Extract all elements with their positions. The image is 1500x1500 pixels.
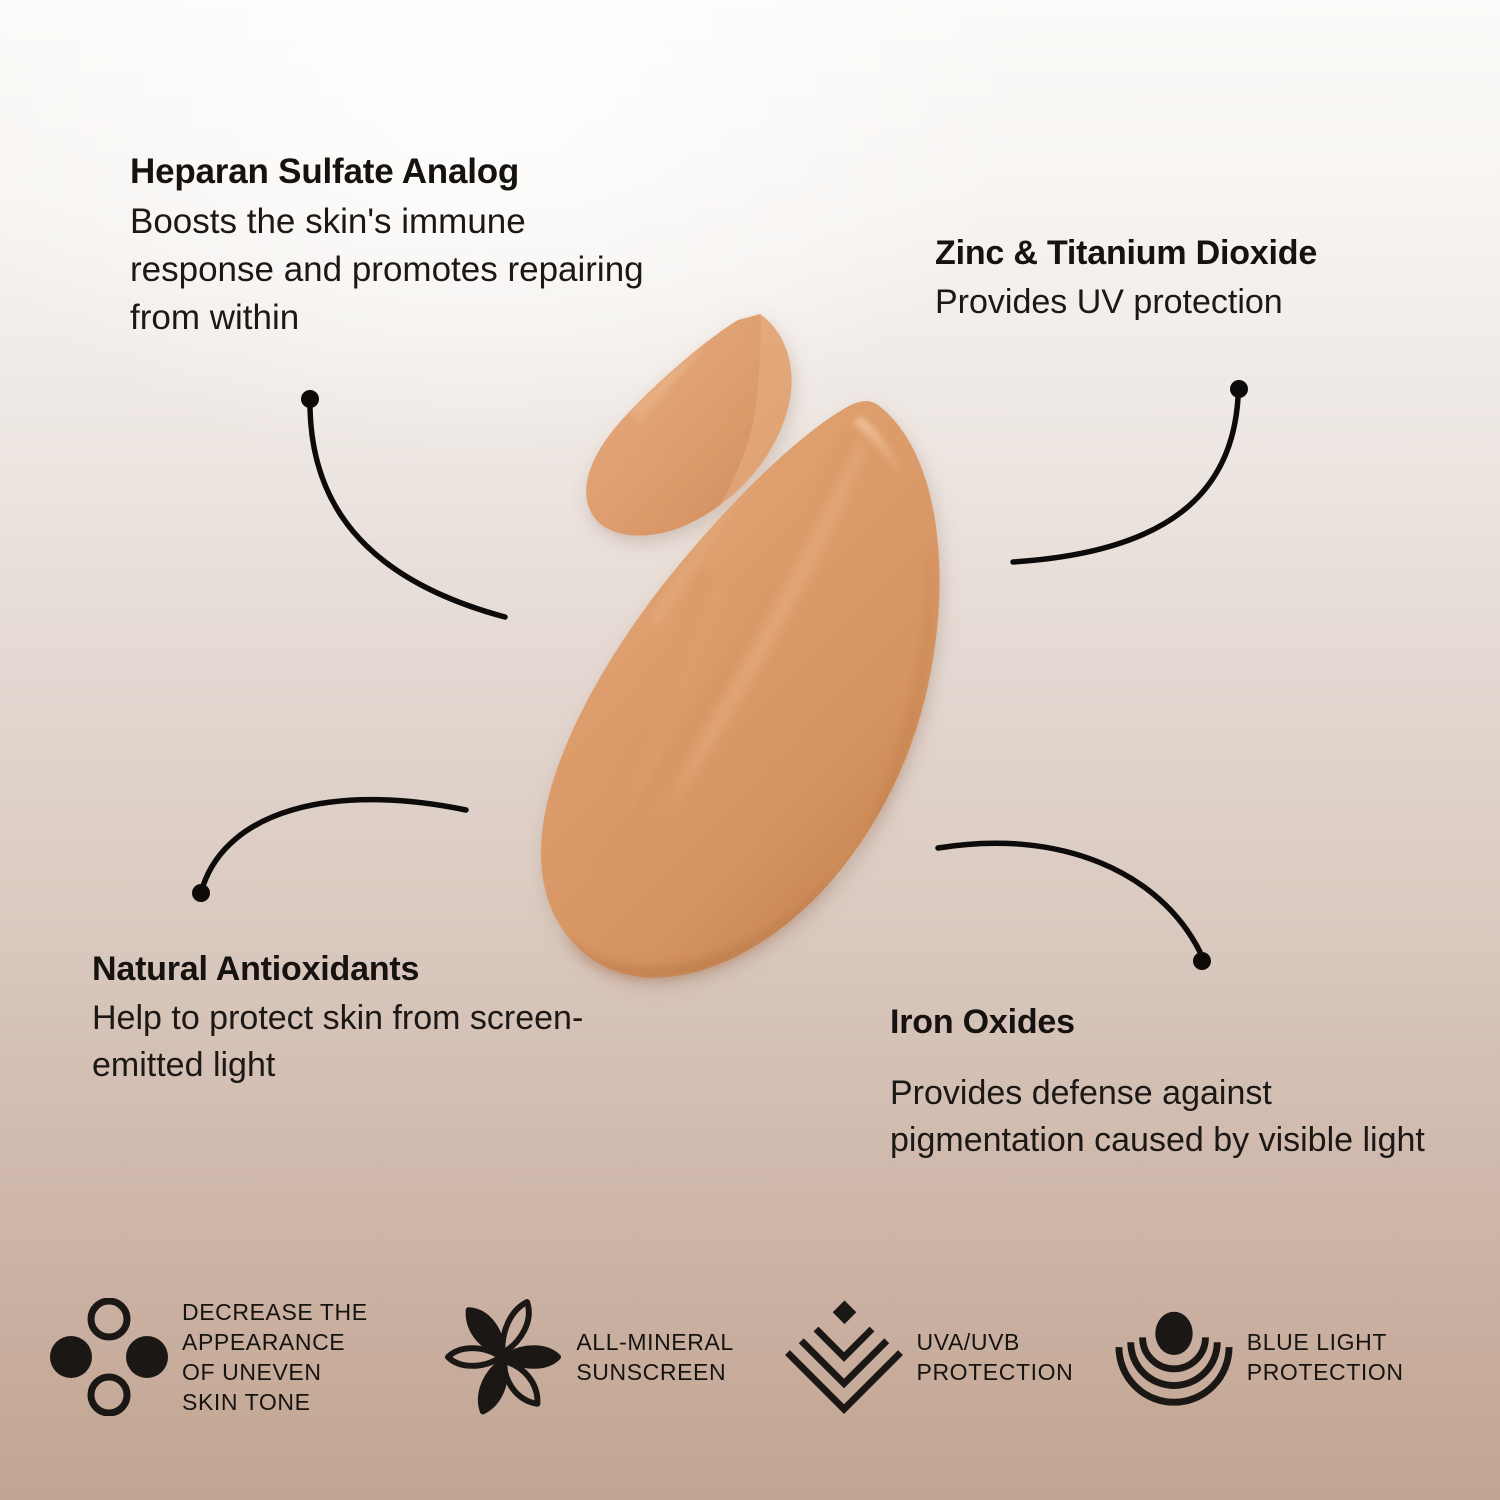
benefit-strip: DECREASE THE APPEARANCE OF UNEVEN SKIN T… xyxy=(50,1272,1450,1442)
ingredient-infographic: Heparan Sulfate Analog Boosts the skin's… xyxy=(0,0,1500,1500)
swatch-dollop-small xyxy=(586,314,791,536)
benefit-label: UVA/UVB PROTECTION xyxy=(917,1327,1074,1387)
connector-iron xyxy=(938,843,1200,952)
chevron-rays-uv-icon xyxy=(785,1298,903,1416)
connector-dot-zinc xyxy=(1230,380,1248,398)
swatch-smear-large xyxy=(541,401,940,979)
benefit-uva-uvb-protection: UVA/UVB PROTECTION xyxy=(785,1298,1115,1416)
benefit-blue-light-protection: BLUE LIGHT PROTECTION xyxy=(1115,1298,1450,1416)
callout-title: Natural Antioxidants xyxy=(92,945,622,993)
callout-natural-antioxidants: Natural Antioxidants Help to protect ski… xyxy=(92,945,622,1089)
connector-dot-antioxidants xyxy=(192,884,210,902)
four-dots-skin-tone-icon xyxy=(50,1298,168,1416)
connector-antioxidants xyxy=(203,800,466,886)
connector-heparan xyxy=(310,408,505,617)
foundation-swatch xyxy=(530,300,970,1020)
connector-dot-iron xyxy=(1193,952,1211,970)
callout-zinc-titanium-dioxide: Zinc & Titanium Dioxide Provides UV prot… xyxy=(935,230,1455,326)
benefit-label: ALL-MINERAL SUNSCREEN xyxy=(576,1327,733,1387)
flower-petals-mineral-icon xyxy=(444,1298,562,1416)
connector-zinc xyxy=(1013,398,1238,562)
radiating-arcs-blue-light-icon xyxy=(1115,1298,1233,1416)
callout-title: Iron Oxides xyxy=(890,998,1430,1046)
callout-body: Help to protect skin from screen-emitted… xyxy=(92,995,622,1089)
callout-body: Boosts the skin's immune response and pr… xyxy=(130,198,650,342)
benefit-label: BLUE LIGHT PROTECTION xyxy=(1247,1327,1404,1387)
callout-iron-oxides: Iron Oxides Provides defense against pig… xyxy=(890,998,1430,1164)
callout-title: Heparan Sulfate Analog xyxy=(130,148,650,196)
benefit-all-mineral-sunscreen: ALL-MINERAL SUNSCREEN xyxy=(444,1298,784,1416)
benefit-decrease-uneven-skin-tone: DECREASE THE APPEARANCE OF UNEVEN SKIN T… xyxy=(50,1297,444,1417)
callout-heparan-sulfate-analog: Heparan Sulfate Analog Boosts the skin's… xyxy=(130,148,650,342)
benefit-label: DECREASE THE APPEARANCE OF UNEVEN SKIN T… xyxy=(182,1297,368,1417)
callout-title: Zinc & Titanium Dioxide xyxy=(935,230,1455,276)
connector-dot-heparan xyxy=(301,390,319,408)
callout-body: Provides UV protection xyxy=(935,278,1455,326)
callout-body: Provides defense against pigmentation ca… xyxy=(890,1070,1430,1164)
